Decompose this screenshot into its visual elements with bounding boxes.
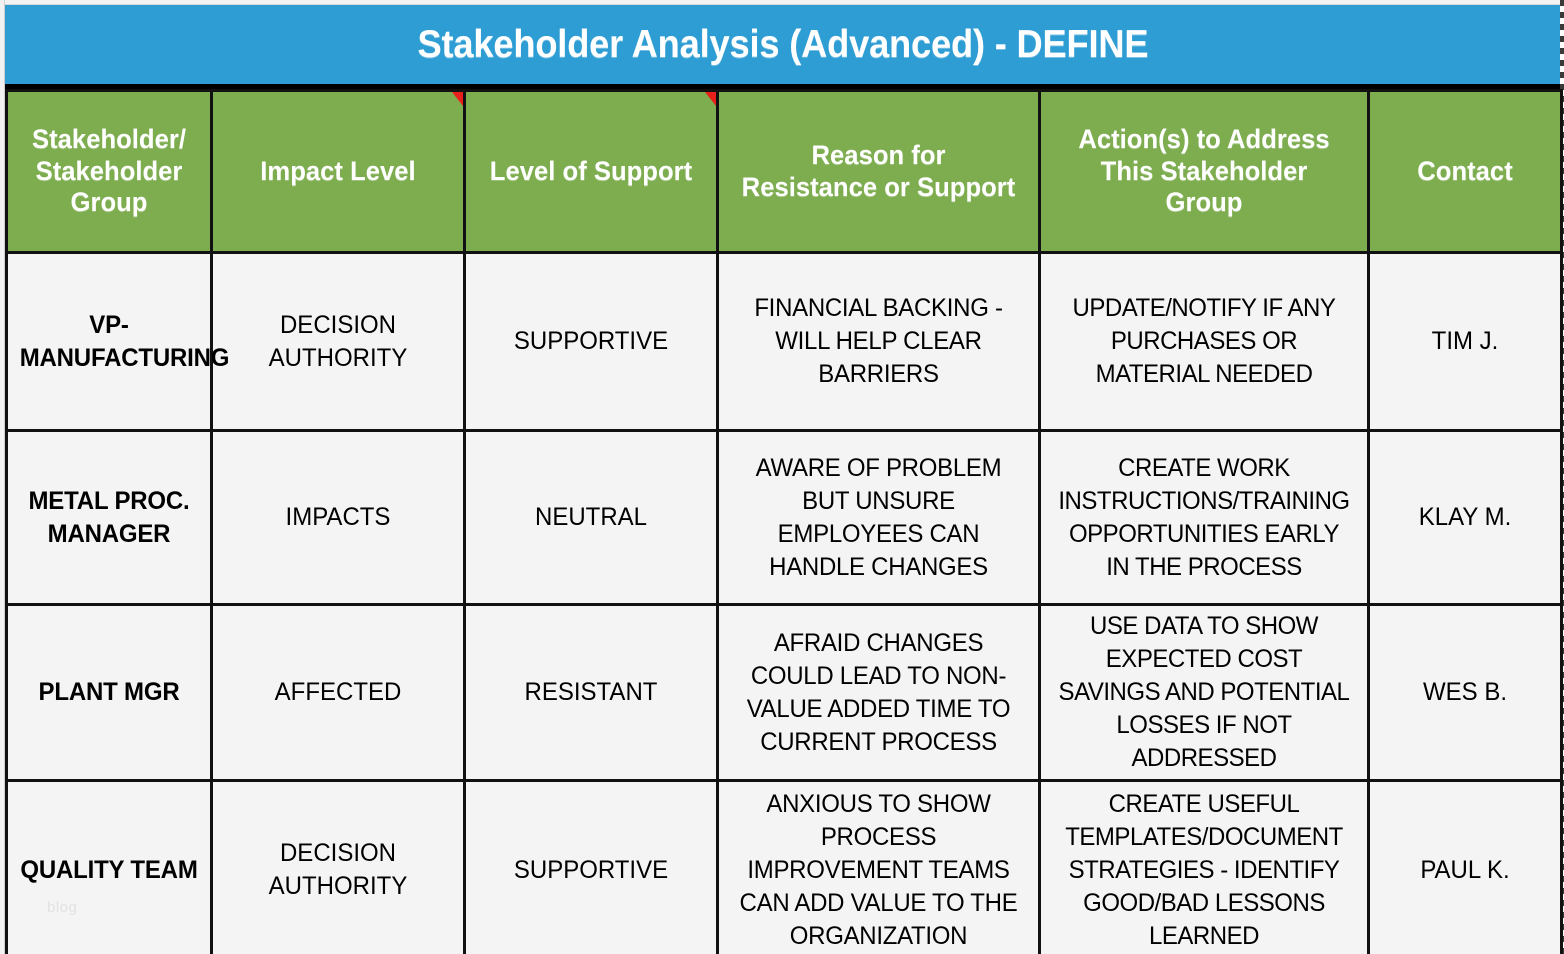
table-header-row: Stakeholder/ Stakeholder Group Impact Le… <box>7 91 1562 253</box>
cell-stakeholder[interactable]: METAL PROC. MANAGER <box>7 431 212 605</box>
cell-contact[interactable]: KLAY M. <box>1369 431 1562 605</box>
cell-text: VP-MANUFACTURING <box>20 309 199 375</box>
cell-text: FINANCIAL BACKING - WILL HELP CLEAR BARR… <box>733 292 1024 391</box>
table-row: METAL PROC. MANAGER IMPACTS NEUTRAL AWAR… <box>7 431 1562 605</box>
cell-text: DECISION AUTHORITY <box>226 837 451 903</box>
column-header-actions-line-1: Action(s) to Address <box>1057 124 1352 156</box>
column-header-level-of-support: Level of Support <box>465 91 718 253</box>
cell-reason[interactable]: ANXIOUS TO SHOW PROCESS IMPROVEMENT TEAM… <box>718 781 1040 954</box>
cell-text: WES B. <box>1381 676 1548 709</box>
cell-level-of-support[interactable]: SUPPORTIVE <box>465 253 718 431</box>
cell-text: ANXIOUS TO SHOW PROCESS IMPROVEMENT TEAM… <box>733 788 1024 953</box>
title-banner: Stakeholder Analysis (Advanced) - DEFINE <box>5 5 1560 89</box>
cell-text: CREATE WORK INSTRUCTIONS/TRAINING OPPORT… <box>1055 452 1353 584</box>
cell-impact-level[interactable]: IMPACTS <box>212 431 465 605</box>
cell-text: AWARE OF PROBLEM BUT UNSURE EMPLOYEES CA… <box>733 452 1024 584</box>
column-header-stakeholder-line-1: Stakeholder/ <box>21 124 198 156</box>
cell-contact[interactable]: TIM J. <box>1369 253 1562 431</box>
table-row: VP-MANUFACTURING DECISION AUTHORITY SUPP… <box>7 253 1562 431</box>
column-header-contact: Contact <box>1369 91 1562 253</box>
column-header-actions-line-2: This Stakeholder <box>1057 156 1352 188</box>
column-header-reason-line-1: Reason for <box>735 140 1023 172</box>
column-header-impact-level: Impact Level <box>212 91 465 253</box>
cell-impact-level[interactable]: AFFECTED <box>212 605 465 781</box>
cell-stakeholder[interactable]: PLANT MGR <box>7 605 212 781</box>
stakeholder-analysis-worksheet: Stakeholder Analysis (Advanced) - DEFINE… <box>5 5 1560 954</box>
cell-actions[interactable]: CREATE WORK INSTRUCTIONS/TRAINING OPPORT… <box>1040 431 1369 605</box>
cell-actions[interactable]: UPDATE/NOTIFY IF ANY PURCHASES OR MATERI… <box>1040 253 1369 431</box>
cell-text: TIM J. <box>1381 325 1548 358</box>
cell-actions[interactable]: USE DATA TO SHOW EXPECTED COST SAVINGS A… <box>1040 605 1369 781</box>
cell-text: RESISTANT <box>479 676 704 709</box>
cell-text: METAL PROC. MANAGER <box>20 485 199 551</box>
spreadsheet-screen: Stakeholder Analysis (Advanced) - DEFINE… <box>0 0 1564 954</box>
table-row: PLANT MGR AFFECTED RESISTANT AFRAID CHAN… <box>7 605 1562 781</box>
cell-reason[interactable]: AWARE OF PROBLEM BUT UNSURE EMPLOYEES CA… <box>718 431 1040 605</box>
cell-text: NEUTRAL <box>479 501 704 534</box>
table-row: QUALITY TEAM DECISION AUTHORITY SUPPORTI… <box>7 781 1562 954</box>
column-header-stakeholder: Stakeholder/ Stakeholder Group <box>7 91 212 253</box>
cell-contact[interactable]: PAUL K. <box>1369 781 1562 954</box>
cell-text: DECISION AUTHORITY <box>226 309 451 375</box>
column-header-actions-line-3: Group <box>1057 187 1352 219</box>
cell-text: CREATE USEFUL TEMPLATES/DOCUMENT STRATEG… <box>1055 788 1353 953</box>
cell-text: USE DATA TO SHOW EXPECTED COST SAVINGS A… <box>1055 610 1353 775</box>
cell-level-of-support[interactable]: SUPPORTIVE <box>465 781 718 954</box>
column-header-impact-level-label: Impact Level <box>227 156 449 188</box>
cell-text: SUPPORTIVE <box>479 325 704 358</box>
page-title: Stakeholder Analysis (Advanced) - DEFINE <box>417 23 1148 67</box>
cell-text: KLAY M. <box>1381 501 1548 534</box>
cell-text: PAUL K. <box>1381 854 1548 887</box>
cell-text: AFFECTED <box>226 676 451 709</box>
cell-reason[interactable]: AFRAID CHANGES COULD LEAD TO NON-VALUE A… <box>718 605 1040 781</box>
cell-text: IMPACTS <box>226 501 451 534</box>
cell-text: AFRAID CHANGES COULD LEAD TO NON-VALUE A… <box>733 627 1024 759</box>
cell-stakeholder[interactable]: VP-MANUFACTURING <box>7 253 212 431</box>
cell-level-of-support[interactable]: NEUTRAL <box>465 431 718 605</box>
stakeholder-analysis-table: Stakeholder/ Stakeholder Group Impact Le… <box>5 89 1563 954</box>
column-header-stakeholder-line-3: Group <box>21 187 198 219</box>
comment-marker-icon[interactable] <box>705 92 716 106</box>
column-header-level-of-support-label: Level of Support <box>480 156 702 188</box>
cell-level-of-support[interactable]: RESISTANT <box>465 605 718 781</box>
cell-stakeholder[interactable]: QUALITY TEAM <box>7 781 212 954</box>
column-header-contact-label: Contact <box>1382 156 1547 188</box>
cell-text: PLANT MGR <box>20 676 199 709</box>
cell-text: UPDATE/NOTIFY IF ANY PURCHASES OR MATERI… <box>1055 292 1353 391</box>
blog-watermark: blog <box>47 899 77 916</box>
cell-actions[interactable]: CREATE USEFUL TEMPLATES/DOCUMENT STRATEG… <box>1040 781 1369 954</box>
cell-impact-level[interactable]: DECISION AUTHORITY <box>212 781 465 954</box>
cell-text: SUPPORTIVE <box>479 854 704 887</box>
cell-text: QUALITY TEAM <box>20 854 199 887</box>
column-header-reason-line-2: Resistance or Support <box>735 172 1023 204</box>
column-header-reason: Reason for Resistance or Support <box>718 91 1040 253</box>
comment-marker-icon[interactable] <box>452 92 463 106</box>
cell-contact[interactable]: WES B. <box>1369 605 1562 781</box>
column-header-stakeholder-line-2: Stakeholder <box>21 156 198 188</box>
cell-reason[interactable]: FINANCIAL BACKING - WILL HELP CLEAR BARR… <box>718 253 1040 431</box>
column-header-actions: Action(s) to Address This Stakeholder Gr… <box>1040 91 1369 253</box>
cell-impact-level[interactable]: DECISION AUTHORITY <box>212 253 465 431</box>
